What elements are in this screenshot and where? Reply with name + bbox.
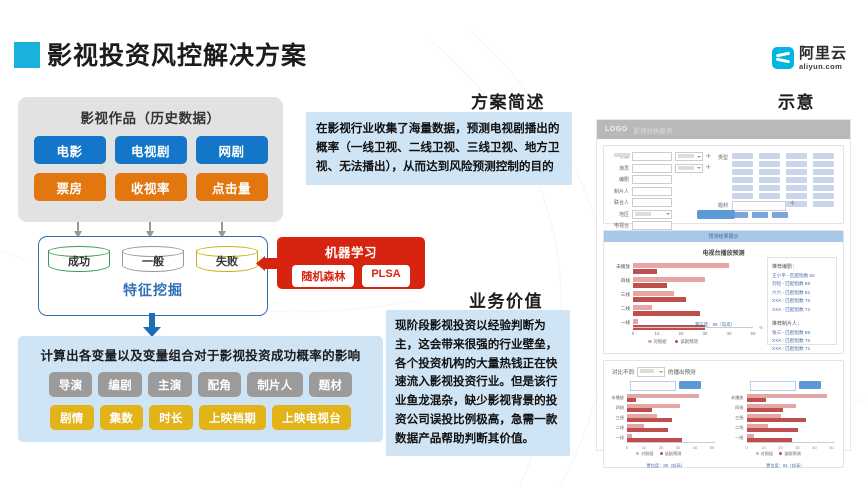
form-row-coproducer: 联合人 <box>612 198 711 207</box>
chart-xtick: 10 <box>655 331 660 336</box>
genre-tag[interactable] <box>786 153 807 159</box>
genre-tag[interactable] <box>759 177 780 183</box>
left-confidence-note: 置信度：85（较高） <box>608 463 724 469</box>
right-confidence-note: 置信度：84（较高） <box>728 463 844 469</box>
legend-predicted: 该剧预测 <box>660 451 682 457</box>
genre-tag[interactable] <box>813 193 834 199</box>
rec-item[interactable]: 刘恒 - 匹配指数 89 <box>772 281 832 287</box>
genre-tag[interactable] <box>732 193 753 199</box>
cmp-cat: 一线 <box>728 435 744 441</box>
genre-tag[interactable] <box>732 185 753 191</box>
rec-item[interactable]: XXX - 匹配指数 72 <box>772 346 832 352</box>
genre-tag[interactable] <box>732 177 753 183</box>
chart-x-unit: % <box>759 325 763 330</box>
tag-supporting-actor[interactable]: 配角 <box>198 372 242 397</box>
theme-input[interactable] <box>732 201 786 211</box>
calc-row-people: 导演 编剧 主演 配角 制片人 题材 <box>18 372 383 397</box>
genre-tag[interactable] <box>813 153 834 159</box>
cylinder-success-label: 成功 <box>48 253 110 269</box>
form-label-screenwriter: 编剧 <box>612 176 629 183</box>
query-form-card: 导演 ✛ 演员 ✛ 编剧 制片人 <box>603 145 844 224</box>
tag-plot[interactable]: 剧情 <box>50 405 94 430</box>
form-row-actor: 演员 ✛ <box>612 164 711 173</box>
chip-clicks[interactable]: 点击量 <box>196 173 268 201</box>
form-input-channel[interactable] <box>632 221 672 230</box>
compare-dimension-select[interactable] <box>637 367 665 377</box>
right-search-row <box>728 381 844 391</box>
logo-text-cn: 阿里云 <box>799 46 847 61</box>
ml-panel-title: 机器学习 <box>277 237 425 261</box>
rec-item[interactable]: XXX - 匹配指数 76 <box>772 338 832 344</box>
cylinder-average-label: 一般 <box>122 253 184 269</box>
outcome-cylinders: 成功 一般 失败 <box>39 237 267 274</box>
cmp-xtick: 50 <box>829 445 833 450</box>
tv-channel-prediction-chart: 未播放 四线 三线 二线 一线 0 10 20 30 <box>610 262 760 344</box>
cmp-cat: 二线 <box>608 425 624 431</box>
cmp-cat: 未播放 <box>608 395 624 401</box>
genre-tag[interactable] <box>786 193 807 199</box>
cmp-bar-predict <box>627 418 672 422</box>
cmp-x-axis <box>747 442 835 443</box>
source-row-media: 电影 电视剧 网剧 <box>18 136 283 164</box>
cmp-bar-control <box>627 394 699 398</box>
chart-xtick: 40 <box>727 331 732 336</box>
rec-item[interactable]: XXX - 匹配指数 72 <box>772 307 832 313</box>
rec-producer-title: 推荐制片人： <box>772 320 832 327</box>
chart-bar-predict-tier4 <box>633 283 667 288</box>
value-textbox: 现阶段影视投资以经验判断为主，这会带来很强的行业壁垒，各个投资机构的大量热钱正在… <box>386 310 570 456</box>
demo-app-screenshot: LOGO 影视分析服务 导演 ✛ 演员 ✛ 编剧 <box>596 119 851 451</box>
feature-panel-title: 特征挖掘 <box>39 280 267 300</box>
cmp-xtick: 30 <box>676 445 680 450</box>
genre-tag[interactable] <box>732 169 753 175</box>
tag-subject[interactable]: 题材 <box>309 372 353 397</box>
value-text: 现阶段影视投资以经验判断为主，这会带来很强的行业壁垒，各个投资机构的大量热钱正在… <box>395 317 561 448</box>
genre-tag[interactable] <box>813 185 834 191</box>
query-form: 导演 ✛ 演员 ✛ 编剧 制片人 <box>612 152 711 233</box>
genre-tag[interactable] <box>732 161 753 167</box>
summary-heading: 方案简述 <box>471 88 545 113</box>
add-theme-icon[interactable]: ✛ <box>790 201 795 207</box>
cylinder-average: 一般 <box>122 246 184 274</box>
logo-text-en: aliyun.com <box>799 63 847 71</box>
rec-item[interactable]: 张三 - 匹配指数 89 <box>772 330 832 336</box>
legend-predicted: 该剧预测 <box>675 339 698 345</box>
comparison-card: 对比不同 的播出预测 未播放 四线 <box>603 360 844 468</box>
cmp-bar-predict <box>747 398 766 402</box>
right-search-input[interactable] <box>750 381 796 391</box>
chip-web-series[interactable]: 网剧 <box>196 136 268 164</box>
chart-xtick: 50 <box>751 331 756 336</box>
comparison-charts: 未播放 四线 三线 二线 一线 <box>604 381 843 469</box>
chart-cat-unaired: 未播放 <box>610 264 630 270</box>
tag-screenwriter[interactable]: 编剧 <box>98 372 142 397</box>
demo-heading: 示意 <box>778 88 815 113</box>
theme-chip[interactable] <box>772 212 788 218</box>
cmp-bar-predict <box>627 428 668 432</box>
left-search-input[interactable] <box>630 381 676 391</box>
form-input-producer[interactable] <box>632 187 672 196</box>
cmp-cat: 未播放 <box>728 395 744 401</box>
chart-cat-tier2: 二线 <box>610 306 630 312</box>
app-name-text: 影视分析服务 <box>634 125 673 135</box>
source-panel-title: 影视作品（历史数据） <box>18 97 283 127</box>
rec-screenwriter-title: 推荐编剧： <box>772 263 832 270</box>
cmp-xtick: 20 <box>659 445 663 450</box>
chart-bar-predict-unaired <box>633 269 657 274</box>
cmp-xtick: 0 <box>745 445 747 450</box>
genre-tag-grid <box>732 153 834 207</box>
cmp-xtick: 10 <box>642 445 646 450</box>
chart-bar-control-tier3 <box>633 291 674 296</box>
cmp-xtick: 20 <box>778 445 782 450</box>
genre-tag[interactable] <box>786 185 807 191</box>
cmp-xtick: 40 <box>812 445 816 450</box>
chart-confidence-note: 置信度：86（较高） <box>695 322 735 328</box>
form-row-producer: 制片人 <box>612 187 711 196</box>
form-input-director[interactable] <box>632 152 672 161</box>
cmp-bar-predict <box>627 408 652 412</box>
feature-mining-panel: 成功 一般 失败 特征挖掘 <box>38 236 268 316</box>
legend-control: 对照组 <box>648 339 667 345</box>
tag-lead-actor[interactable]: 主演 <box>148 372 192 397</box>
ml-random-forest[interactable]: 随机森林 <box>292 265 354 287</box>
genre-tag[interactable] <box>759 185 780 191</box>
rec-item[interactable]: 王小平 - 匹配指数 92 <box>772 273 832 279</box>
cmp-legend: 对照组 该剧预测 <box>636 451 681 457</box>
legend-control: 对照组 <box>636 451 654 457</box>
rec-item[interactable]: 六六 - 匹配指数 82 <box>772 290 832 296</box>
form-label-region: 地区 <box>612 211 629 218</box>
form-label-coproducer: 联合人 <box>612 199 629 206</box>
genre-tag[interactable] <box>759 161 780 167</box>
left-chart: 未播放 四线 三线 二线 一线 <box>608 394 724 456</box>
cylinder-failure-label: 失败 <box>196 253 258 269</box>
genre-tag[interactable] <box>813 169 834 175</box>
form-input-coproducer[interactable] <box>632 198 672 207</box>
left-search-button[interactable] <box>679 381 701 389</box>
genre-tag[interactable] <box>786 177 807 183</box>
result-card-header: 预测结果展示 <box>604 231 843 242</box>
cmp-x-axis <box>627 442 715 443</box>
chart-xtick: 0 <box>632 331 634 336</box>
chart-legend: 对照组 该剧预测 <box>648 339 698 345</box>
aliyun-logo-icon <box>772 47 794 69</box>
form-select-region[interactable] <box>632 210 672 219</box>
chart-cat-tier1: 一线 <box>610 320 630 326</box>
genre-tag[interactable] <box>813 201 834 207</box>
tag-release-window[interactable]: 上映档期 <box>199 405 266 430</box>
app-logo-text: LOGO <box>605 126 628 133</box>
recommendation-panel: 推荐编剧： 王小平 - 匹配指数 92 刘恒 - 匹配指数 89 六六 - 匹配… <box>767 257 837 345</box>
form-label-actor: 演员 <box>612 165 629 172</box>
aliyun-logo: 阿里云 aliyun.com <box>772 46 847 71</box>
chart-bar-control-tier2 <box>633 305 652 310</box>
cmp-bar-predict <box>747 428 798 432</box>
chart-title: 电视台播放预测 <box>604 248 843 257</box>
tag-broadcast-channel[interactable]: 上映电视台 <box>272 405 351 430</box>
calc-panel-title: 计算出各变量以及变量组合对于影视投资成功概率的影响 <box>18 336 383 364</box>
tag-episodes[interactable]: 集数 <box>100 405 144 430</box>
legend-predicted: 该剧预测 <box>779 451 801 457</box>
source-data-panel: 影视作品（历史数据） 电影 电视剧 网剧 票房 收视率 点击量 <box>18 97 283 222</box>
chart-cat-tier3: 三线 <box>610 292 630 298</box>
cmp-xtick: 40 <box>693 445 697 450</box>
theme-chip[interactable] <box>752 212 768 218</box>
genre-tag-group: 类型 <box>714 153 834 207</box>
comparison-chart-left: 未播放 四线 三线 二线 一线 <box>608 381 724 469</box>
comparison-chart-right: 未播放 四线 三线 二线 一线 <box>728 381 844 469</box>
compare-suffix-label: 的播出预测 <box>668 368 696 376</box>
header-accent-square <box>14 42 40 68</box>
cmp-bar-predict <box>747 418 806 422</box>
rec-item[interactable]: XXX - 匹配指数 76 <box>772 298 832 304</box>
left-search-row <box>608 381 724 391</box>
chip-ratings[interactable]: 收视率 <box>115 173 187 201</box>
machine-learning-panel: 机器学习 随机森林 PLSA <box>277 237 425 289</box>
form-select-actor-role[interactable] <box>675 164 703 173</box>
chart-cat-tier4: 四线 <box>610 278 630 284</box>
cmp-xtick: 30 <box>795 445 799 450</box>
tag-duration[interactable]: 时长 <box>149 405 193 430</box>
comparison-control: 对比不同 的播出预测 <box>604 361 843 377</box>
chart-bar-control-tier4 <box>633 277 705 282</box>
cylinder-success: 成功 <box>48 246 110 274</box>
genre-tag[interactable] <box>759 169 780 175</box>
cmp-cat: 二线 <box>728 425 744 431</box>
form-select-director-role[interactable] <box>675 152 703 161</box>
result-card-title: 预测结果展示 <box>708 233 738 240</box>
cmp-cat: 一线 <box>608 435 624 441</box>
form-row-screenwriter: 编剧 <box>612 175 711 184</box>
submit-button[interactable] <box>697 210 735 219</box>
genre-tag[interactable] <box>759 193 780 199</box>
cmp-cat: 三线 <box>728 415 744 421</box>
chart-bar-control-unaired <box>633 263 729 268</box>
ml-plsa[interactable]: PLSA <box>362 265 409 287</box>
add-director-icon[interactable]: ✛ <box>706 154 711 160</box>
arrow-feature-to-calc <box>143 313 161 337</box>
slide-root: 影视投资风控解决方案 阿里云 aliyun.com 影视作品（历史数据） 电影 … <box>0 0 865 486</box>
chip-movie[interactable]: 电影 <box>34 136 106 164</box>
page-title: 影视投资风控解决方案 <box>47 36 307 72</box>
genre-tag[interactable] <box>759 153 780 159</box>
cmp-bar-predict <box>627 398 636 402</box>
add-actor-icon[interactable]: ✛ <box>706 165 711 171</box>
ml-algorithms: 随机森林 PLSA <box>277 265 425 287</box>
cmp-bar-predict <box>747 408 783 412</box>
chart-bar-predict-tier2 <box>633 311 700 316</box>
prediction-result-card: 预测结果展示 电视台播放预测 未播放 四线 三线 二线 一线 <box>603 230 844 354</box>
cmp-cat: 三线 <box>608 415 624 421</box>
theme-selected-chips <box>732 212 788 218</box>
cmp-cat: 四线 <box>608 405 624 411</box>
genre-tag[interactable] <box>786 169 807 175</box>
cmp-legend: 对照组 该剧预测 <box>756 451 801 457</box>
theme-group-label: 题材 <box>714 201 728 209</box>
form-row-channel: 电视台 <box>612 221 711 230</box>
right-search-button[interactable] <box>799 381 821 389</box>
source-row-metrics: 票房 收视率 点击量 <box>18 173 283 201</box>
tag-director[interactable]: 导演 <box>49 372 93 397</box>
form-label-producer: 制片人 <box>612 188 629 195</box>
chart-bar-control-tier1 <box>633 319 638 324</box>
value-heading: 业务价值 <box>469 287 543 312</box>
chip-tv-series[interactable]: 电视剧 <box>115 136 187 164</box>
cmp-cat: 四线 <box>728 405 744 411</box>
cmp-xtick: 50 <box>710 445 714 450</box>
chart-bar-predict-tier3 <box>633 297 686 302</box>
form-input-actor[interactable] <box>632 164 672 173</box>
variable-impact-panel: 计算出各变量以及变量组合对于影视投资成功概率的影响 导演 编剧 主演 配角 制片… <box>18 336 383 442</box>
chart-xtick: 20 <box>679 331 684 336</box>
form-label-channel: 电视台 <box>612 222 629 229</box>
legend-control: 对照组 <box>756 451 774 457</box>
summary-text: 在影视行业收集了海量数据，预测电视剧播出的概率（一线卫视、二线卫视、三线卫视、地… <box>316 120 562 176</box>
cmp-xtick: 10 <box>761 445 765 450</box>
tag-producer[interactable]: 制片人 <box>247 372 302 397</box>
right-chart: 未播放 四线 三线 二线 一线 <box>728 394 844 456</box>
genre-group-label: 类型 <box>714 153 728 207</box>
cmp-xtick: 0 <box>626 445 628 450</box>
summary-textbox: 在影视行业收集了海量数据，预测电视剧播出的概率（一线卫视、二线卫视、三线卫视、地… <box>306 112 572 185</box>
genre-tag[interactable] <box>813 177 834 183</box>
calc-row-attributes: 剧情 集数 时长 上映档期 上映电视台 <box>18 405 383 430</box>
slide-header: 影视投资风控解决方案 阿里云 aliyun.com <box>0 18 865 64</box>
chart-xtick: 30 <box>703 331 708 336</box>
cylinder-failure: 失败 <box>196 246 258 274</box>
chip-box-office[interactable]: 票房 <box>34 173 106 201</box>
app-header-bar: LOGO 影视分析服务 <box>597 120 850 139</box>
form-input-screenwriter[interactable] <box>632 175 672 184</box>
compare-prefix-label: 对比不同 <box>612 368 634 376</box>
genre-tag[interactable] <box>813 161 834 167</box>
genre-tag[interactable] <box>786 161 807 167</box>
genre-tag[interactable] <box>732 153 753 159</box>
